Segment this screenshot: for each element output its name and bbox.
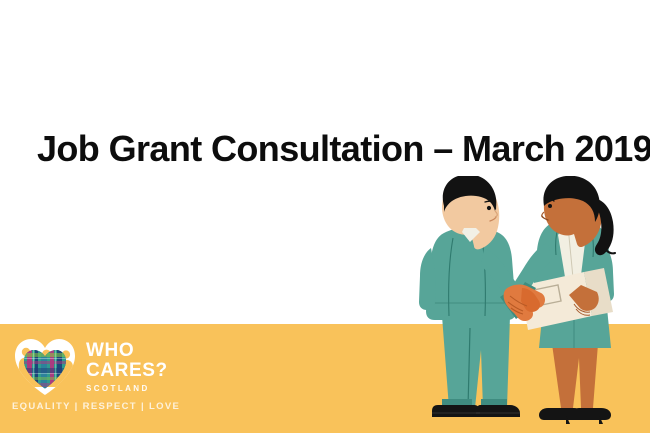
handshake-illustration [398,176,650,433]
logo-word-cares: CARES? [86,361,168,381]
logo-word-who: WHO [86,341,168,361]
logo-tagline: EQUALITY | RESPECT | LOVE [12,401,180,412]
who-cares-scotland-logo: WHO CARES? SCOTLAND EQUALITY | RESPECT |… [12,333,192,423]
logo-subtitle-scotland: SCOTLAND [86,384,168,393]
page-title: Job Grant Consultation – March 2019 [37,127,627,171]
logo-wordmark: WHO CARES? SCOTLAND [86,341,168,393]
tartan-heart-icon [12,335,78,397]
presentation-slide: Job Grant Consultation – March 2019 [0,0,650,433]
